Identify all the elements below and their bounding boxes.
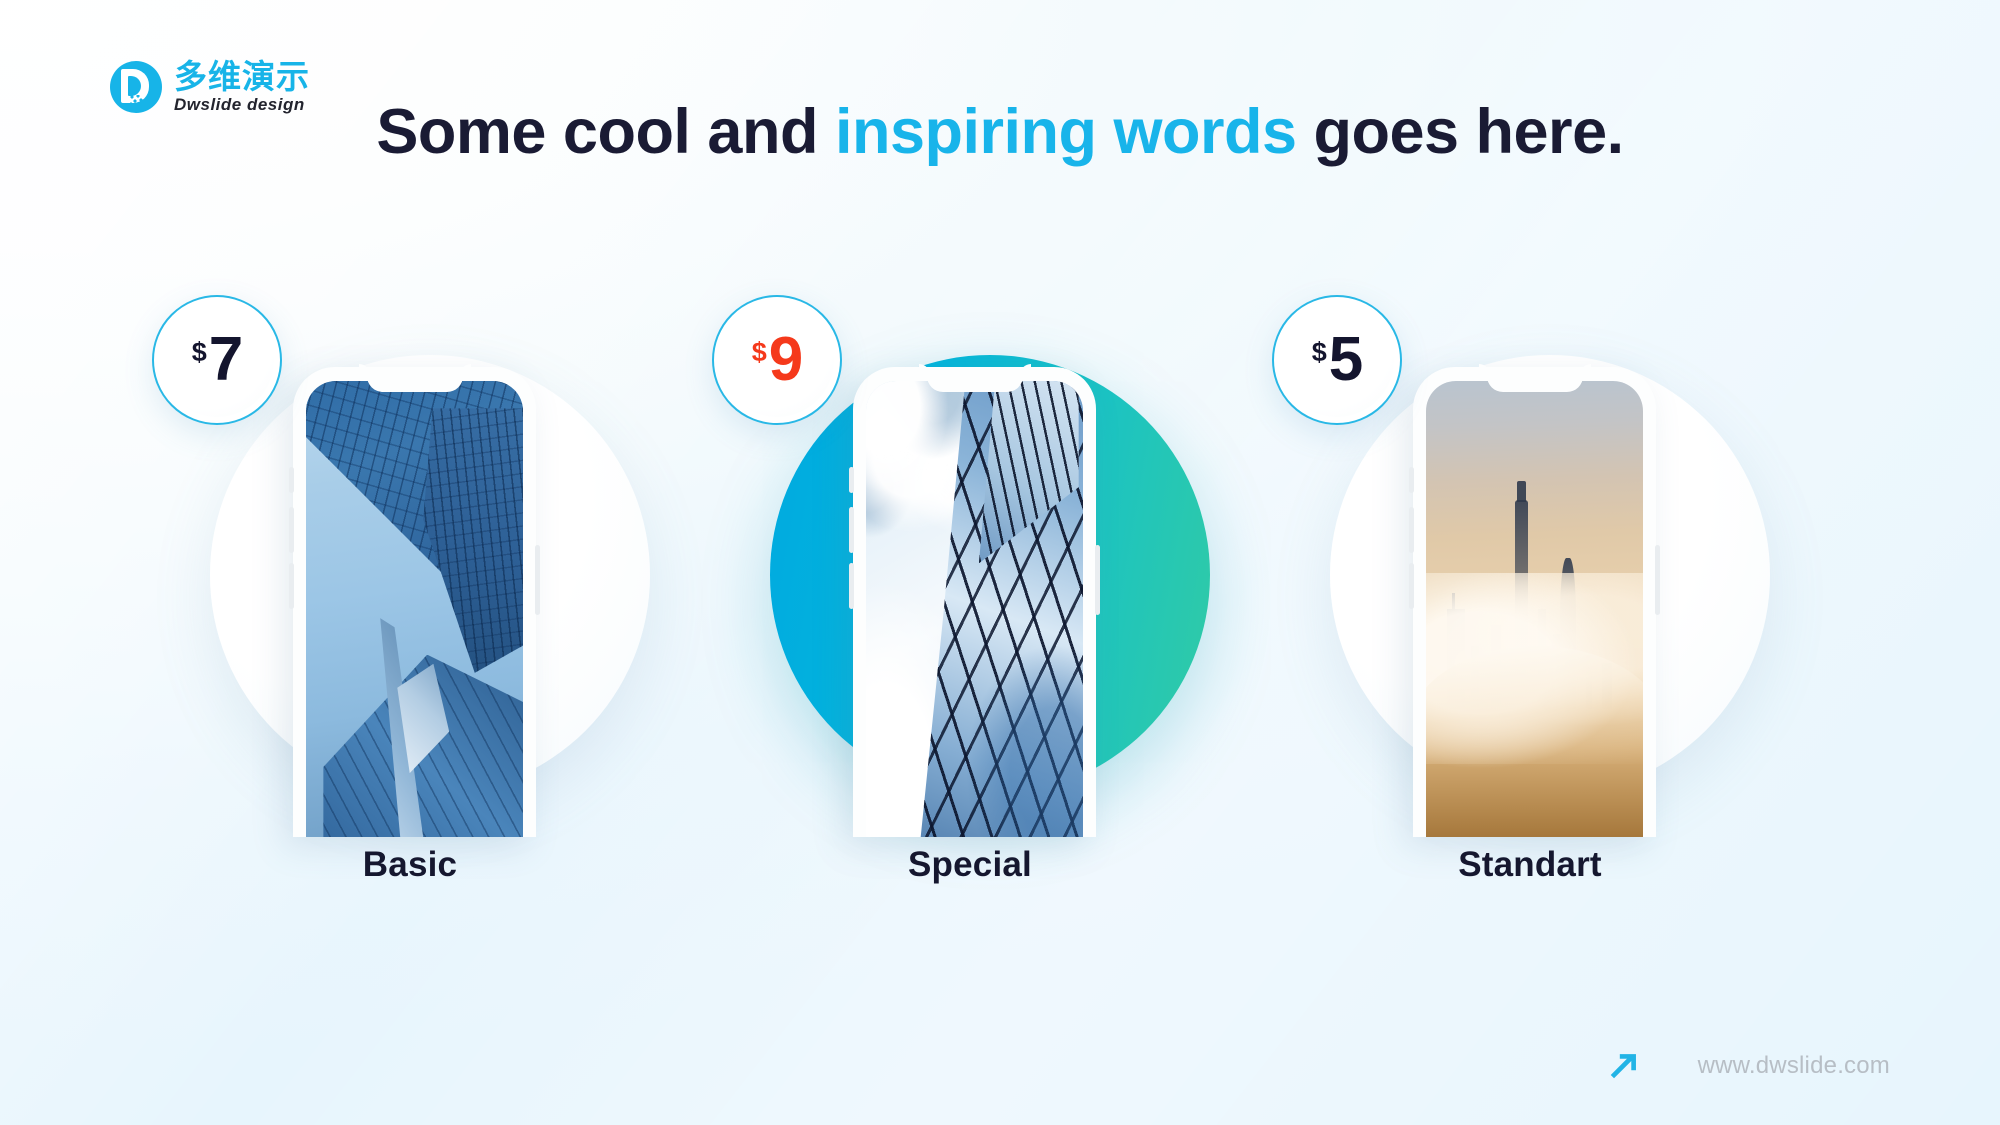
phone-screen-image (306, 381, 523, 837)
phone-notch-icon (367, 367, 463, 392)
headline-part2: goes here. (1296, 97, 1623, 167)
dwslide-logo-icon (110, 61, 162, 113)
phone-notch-icon (1487, 367, 1583, 392)
price-amount: 9 (769, 329, 802, 391)
brand-logo[interactable]: 多维演示 Dwslide design (110, 60, 310, 113)
price-amount: 7 (209, 329, 242, 391)
price-badge: $ 9 (712, 295, 842, 425)
phone-mockup (1413, 367, 1656, 837)
brand-name-en: Dwslide design (174, 96, 310, 113)
pricing-card-standart[interactable]: $ 5 Standart (1280, 345, 1780, 825)
currency-symbol: $ (192, 339, 207, 366)
page-title: Some cool and inspiring words goes here. (370, 92, 1630, 173)
pricing-card-row: $ 7 Basic $ 9 (0, 345, 2000, 825)
currency-symbol: $ (1312, 339, 1327, 366)
plan-name-label: Special (720, 845, 1220, 885)
footer: www.dwslide.com (1606, 1049, 1890, 1083)
price-badge: $ 7 (152, 295, 282, 425)
phone-mockup (853, 367, 1096, 837)
phone-notch-icon (927, 367, 1023, 392)
brand-name-cn: 多维演示 (174, 60, 310, 93)
website-url[interactable]: www.dwslide.com (1698, 1052, 1890, 1080)
plan-name-label: Standart (1280, 845, 1780, 885)
headline-part1: Some cool and (376, 97, 835, 167)
phone-screen-image (866, 381, 1083, 837)
phone-screen-image (1426, 381, 1643, 837)
price-amount: 5 (1329, 329, 1362, 391)
pricing-card-special[interactable]: $ 9 Special (720, 345, 1220, 825)
arrow-up-right-icon[interactable] (1606, 1049, 1640, 1083)
price-badge: $ 5 (1272, 295, 1402, 425)
phone-mockup (293, 367, 536, 837)
plan-name-label: Basic (160, 845, 660, 885)
pricing-card-basic[interactable]: $ 7 Basic (160, 345, 660, 825)
currency-symbol: $ (752, 339, 767, 366)
headline-highlight: inspiring words (835, 97, 1297, 167)
